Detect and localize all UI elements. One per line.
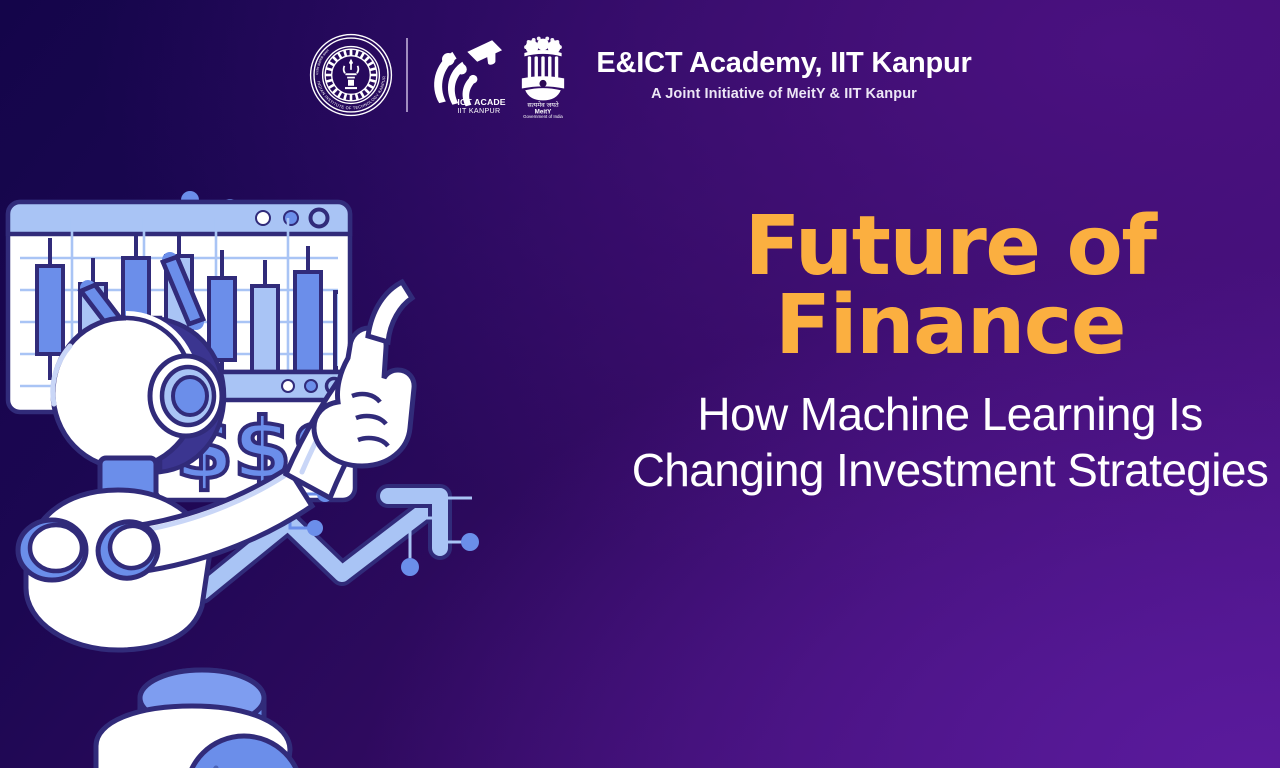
iit-kanpur-seal-icon: भारतीय प्रौद्योगिकी संस्थान INDIAN INSTI… [308, 32, 394, 118]
svg-text:Government of India: Government of India [523, 114, 563, 119]
hero-illustration: $ $ $ [0, 150, 640, 768]
header-subtitle: A Joint Initiative of MeitY & IIT Kanpur [651, 86, 917, 102]
svg-text:ICT ACADEMY: ICT ACADEMY [458, 97, 507, 107]
headline-line-2: Finance [620, 287, 1280, 366]
header-title: E&ICT Academy, IIT Kanpur [596, 48, 971, 80]
header-text-block: E&ICT Academy, IIT Kanpur A Joint Initia… [596, 48, 971, 103]
meity-emblem-icon: सत्यमेव जयते MeitY Government of India [512, 31, 574, 119]
headphone-earcup [150, 356, 222, 436]
poster-canvas: भारतीय प्रौद्योगिकी संस्थान INDIAN INSTI… [0, 0, 1280, 768]
page-subtitle: How Machine Learning Is Changing Investm… [620, 387, 1280, 497]
hero-copy: Future of Finance How Machine Learning I… [620, 208, 1280, 498]
robot-shoulder-left [18, 520, 86, 580]
header-divider [406, 38, 408, 112]
brand-header: भारतीय प्रौद्योगिकी संस्थान INDIAN INSTI… [0, 0, 1280, 150]
ict-academy-logo-icon: ICT ACADEMY IIT KANPUR [422, 32, 506, 118]
robot-analyst-illustration: $ $ $ [0, 150, 640, 768]
svg-text:IIT KANPUR: IIT KANPUR [458, 107, 501, 115]
page-title: Future of Finance [620, 208, 1280, 365]
